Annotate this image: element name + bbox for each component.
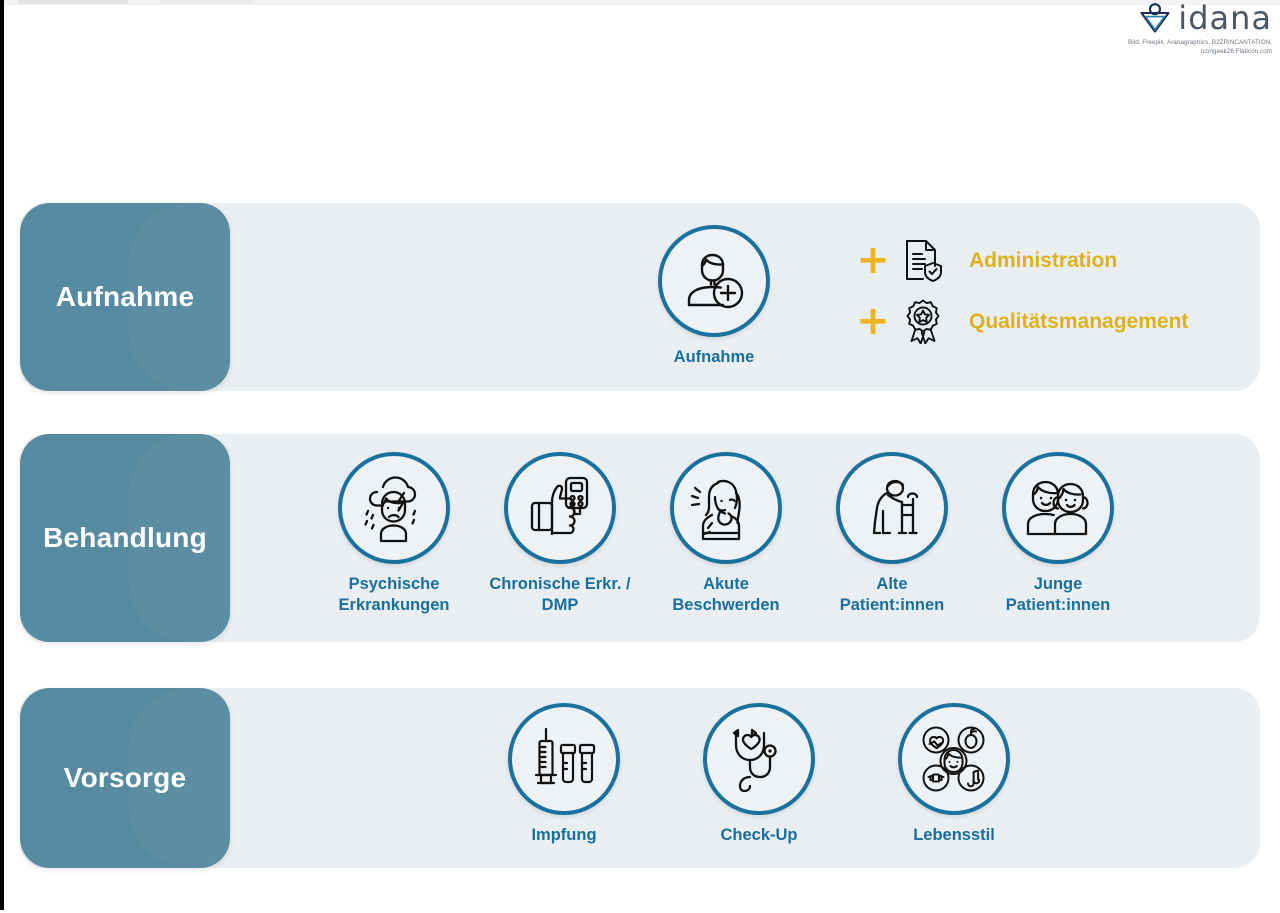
item-chronische-erkrankungen-dmp[interactable]: Chronische Erkr. / DMP (486, 452, 634, 616)
item-aufnahme[interactable]: Aufnahme (640, 225, 788, 368)
elderly-walker-icon (836, 452, 948, 564)
addon-label-qualitaetsmanagement: Qualitätsmanagement (969, 311, 1188, 332)
row-label-aufnahme[interactable]: Aufnahme (20, 203, 230, 391)
item-label-line-1: Psychische (339, 574, 450, 595)
idana-logo-mark-icon (1138, 2, 1172, 34)
lifestyle-wheel-icon (898, 703, 1010, 815)
item-label-psychische-erkrankungen: Psychische Erkrankungen (339, 574, 450, 616)
plus-icon: + (855, 240, 891, 280)
row-label-behandlung-text: Behandlung (43, 522, 207, 554)
brand-header: idana Bild: Freepik, Aranagraphics, B2ZR… (1128, 2, 1272, 57)
item-lebensstil[interactable]: Lebensstil (880, 703, 1028, 846)
item-impfung[interactable]: Impfung (490, 703, 638, 846)
addon-label-administration: Administration (969, 250, 1117, 271)
item-label-check-up: Check-Up (720, 825, 797, 846)
item-label-aufnahme: Aufnahme (674, 347, 755, 368)
capture-edge-top-chip-b (160, 0, 252, 4)
item-label-line-2: Beschwerden (672, 595, 779, 616)
item-label-alte-patientinnen: Alte Patient:innen (840, 574, 945, 616)
item-junge-patientinnen[interactable]: Junge Patient:innen (984, 452, 1132, 616)
item-label-lebensstil: Lebensstil (913, 825, 995, 846)
image-credits: Bild: Freepik, Aranagraphics, B2ZRINCANT… (1128, 39, 1272, 57)
item-label-line-2: Patient:innen (840, 595, 945, 616)
item-label-akute-beschwerden: Akute Beschwerden (672, 574, 779, 616)
item-label-line-2: Patient:innen (1006, 595, 1111, 616)
document-shield-icon (891, 238, 955, 282)
patient-add-icon (658, 225, 770, 337)
item-label-junge-patientinnen: Junge Patient:innen (1006, 574, 1111, 616)
award-rosette-icon (891, 298, 955, 344)
row-label-behandlung[interactable]: Behandlung (20, 434, 230, 642)
item-check-up[interactable]: Check-Up (685, 703, 833, 846)
image-credits-line-2: Icongeek26 Flaticon.com (1128, 48, 1272, 57)
capture-edge-left (0, 0, 4, 913)
sneezing-person-icon (670, 452, 782, 564)
row-label-vorsorge[interactable]: Vorsorge (20, 688, 230, 868)
image-credits-line-1: Bild: Freepik, Aranagraphics, B2ZRINCANT… (1128, 39, 1272, 48)
glucose-meter-icon (504, 452, 616, 564)
children-icon (1002, 452, 1114, 564)
row-aufnahme-items: Aufnahme (640, 225, 788, 368)
item-label-line-1: Alte (840, 574, 945, 595)
syringe-vials-icon (508, 703, 620, 815)
brand-lockup: idana (1138, 2, 1272, 34)
item-label-line-1: Chronische Erkr. / (489, 574, 630, 595)
addon-qualitaetsmanagement[interactable]: + Qualitätsmanagement (855, 298, 1188, 344)
addon-administration[interactable]: + Administration (855, 238, 1188, 282)
row-vorsorge-items: Impfung Check-Up (490, 703, 1028, 846)
item-psychische-erkrankungen[interactable]: Psychische Erkrankungen (320, 452, 468, 616)
item-label-line-2: Erkrankungen (339, 595, 450, 616)
brand-wordmark: idana (1178, 2, 1272, 34)
stethoscope-heart-icon (703, 703, 815, 815)
row-aufnahme-addons: + Administration + (855, 238, 1188, 344)
item-alte-patientinnen[interactable]: Alte Patient:innen (818, 452, 966, 616)
item-label-chronische-erkrankungen-dmp: Chronische Erkr. / DMP (489, 574, 630, 616)
item-label-line-1: Junge (1006, 574, 1111, 595)
slide-canvas: idana Bild: Freepik, Aranagraphics, B2ZR… (0, 0, 1280, 913)
capture-edge-top-chip-a (18, 0, 128, 4)
item-label-impfung: Impfung (531, 825, 596, 846)
plus-icon: + (855, 301, 891, 341)
row-label-vorsorge-text: Vorsorge (64, 762, 186, 794)
item-label-line-2: DMP (489, 595, 630, 616)
item-akute-beschwerden[interactable]: Akute Beschwerden (652, 452, 800, 616)
row-label-aufnahme-text: Aufnahme (56, 281, 195, 313)
row-behandlung-items: Psychische Erkrankungen (320, 452, 1132, 616)
mental-health-storm-icon (338, 452, 450, 564)
item-label-line-1: Akute (672, 574, 779, 595)
